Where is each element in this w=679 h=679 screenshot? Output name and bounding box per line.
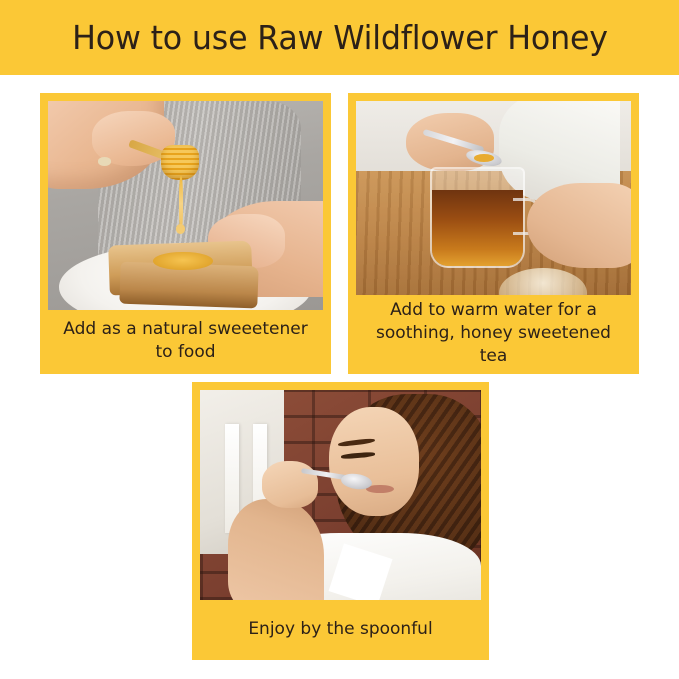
photo-honey-bead-shape [176, 224, 185, 233]
photo-arm-shape [228, 499, 324, 600]
page-title: How to use Raw Wildflower Honey [72, 21, 608, 54]
photo-glass-cup-shape [430, 167, 525, 268]
header-banner: How to use Raw Wildflower Honey [0, 0, 679, 75]
photo-honey-drip-shape [179, 176, 183, 230]
photo-dipper-head-shape [161, 145, 200, 181]
usage-card-tea: Add to warm water for a soothing, honey … [348, 93, 639, 374]
photo-tea-cup [356, 101, 631, 295]
photo-honey-pool-shape [153, 252, 214, 271]
usage-card-caption: Add to warm water for a soothing, honey … [356, 295, 631, 374]
usage-card-spoonful: Enjoy by the spoonful [192, 382, 489, 660]
photo-ring-shape [98, 157, 112, 165]
photo-tea-liquid-shape [432, 190, 523, 266]
photo-honey-dipper-toast [48, 101, 323, 310]
photo-woman-tasting-honey [200, 390, 481, 600]
photo-spoon-honey-shape [474, 154, 493, 162]
usage-card-food: Add as a natural sweeetener to food [40, 93, 331, 374]
photo-hand-shape [262, 461, 318, 507]
photo-face-shape [329, 407, 419, 516]
usage-card-caption: Add as a natural sweeetener to food [48, 310, 323, 374]
usage-card-caption: Enjoy by the spoonful [200, 600, 481, 660]
